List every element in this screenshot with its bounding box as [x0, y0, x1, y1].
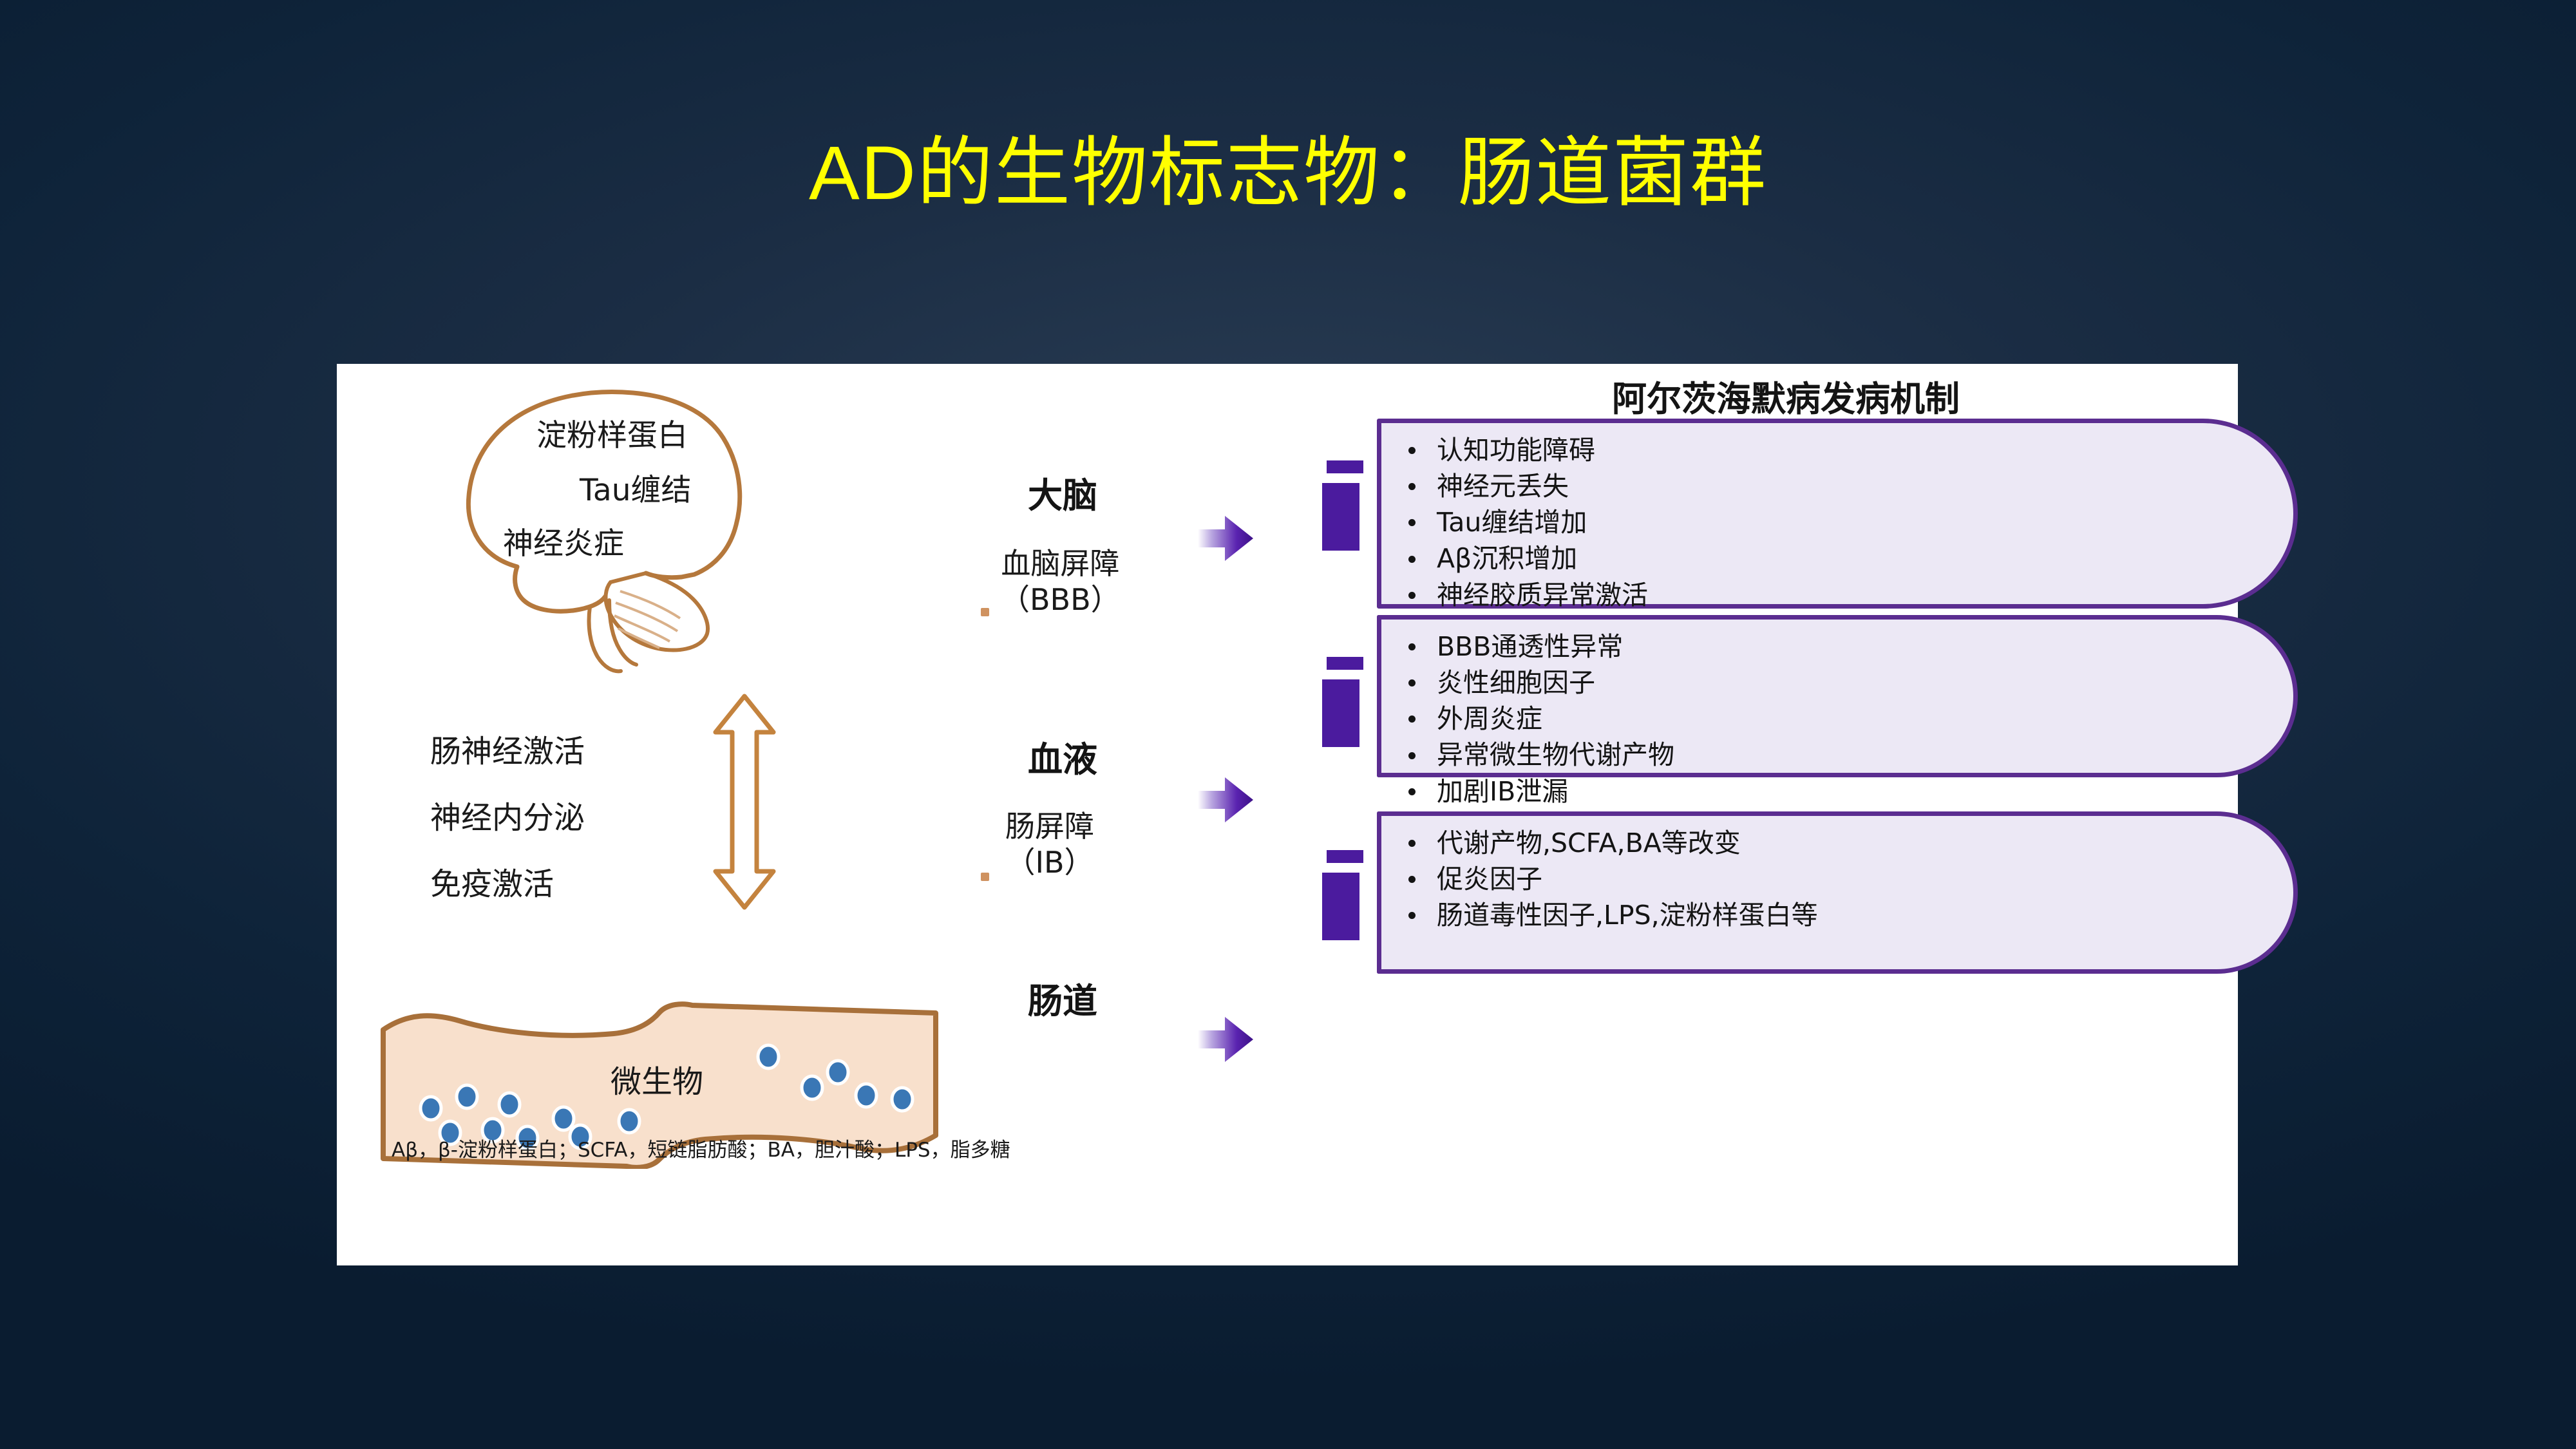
- panel-gut-mechanisms: 代谢产物,SCFA,BA等改变 促炎因子 肠道毒性因子,LPS,淀粉样蛋白等: [1377, 811, 2298, 974]
- panels-heading: 阿尔茨海默病发病机制: [1535, 370, 2037, 421]
- panel-marker-small-blood: [1327, 657, 1363, 670]
- panel-blood-mechanisms: BBB通透性异常 炎性细胞因子 外周炎症 异常微生物代谢产物 加剧IB泄漏: [1377, 615, 2298, 777]
- panel-marker-small-gut: [1327, 850, 1363, 863]
- figure-footnote: Aβ，β-淀粉样蛋白；SCFA，短链脂肪酸；BA，胆汁酸；LPS，脂多糖: [392, 1133, 1010, 1162]
- list-item: 神经元丢失: [1437, 468, 2293, 504]
- right-arrow-icon-gut: [1197, 1014, 1255, 1065]
- slide-canvas: AD的生物标志物：肠道菌群 淀粉样蛋白 Tau缠结 神经炎症 肠神经激活: [0, 0, 2576, 1449]
- list-item: 炎性细胞因子: [1437, 665, 2293, 701]
- bbb-marker-dot: [981, 608, 989, 616]
- panel-marker-large-blood: [1322, 679, 1359, 747]
- list-item: BBB通透性异常: [1437, 629, 2293, 665]
- right-arrow-icon-brain: [1197, 513, 1255, 563]
- panel-marker-large-gut: [1322, 873, 1359, 940]
- list-item: 加剧IB泄漏: [1437, 773, 2293, 810]
- brain-label-amyloid: 淀粉样蛋白: [536, 410, 688, 455]
- axis-label-neuroendocrine: 神经内分泌: [430, 792, 585, 837]
- gut-label-microbiome: 微生物: [611, 1056, 703, 1101]
- panel-marker-small-brain: [1327, 460, 1363, 473]
- list-item: 认知功能障碍: [1437, 432, 2293, 468]
- ib-marker-dot: [981, 873, 989, 881]
- list-item: 肠道毒性因子,LPS,淀粉样蛋白等: [1437, 897, 2293, 933]
- list-item: 异常微生物代谢产物: [1437, 737, 2293, 773]
- brain-label-neuroinflammation: 神经炎症: [503, 518, 624, 563]
- list-item: 代谢产物,SCFA,BA等改变: [1437, 825, 2293, 861]
- list-item: Tau缠结增加: [1437, 504, 2293, 540]
- column-label-gut: 肠道: [1028, 972, 1097, 1023]
- column-label-brain: 大脑: [1028, 467, 1097, 518]
- list-item: Aβ沉积增加: [1437, 540, 2293, 576]
- list-item: 神经胶质异常激活: [1437, 577, 2293, 613]
- right-arrow-icon-blood: [1197, 775, 1255, 825]
- axis-label-enteric-nerve: 肠神经激活: [430, 726, 585, 771]
- column-label-ib: 肠屏障（IB）: [1005, 808, 1094, 880]
- panel-blood-list: BBB通透性异常 炎性细胞因子 外周炎症 异常微生物代谢产物 加剧IB泄漏: [1381, 620, 2293, 810]
- column-label-blood: 血液: [1028, 731, 1097, 782]
- panel-gut-list: 代谢产物,SCFA,BA等改变 促炎因子 肠道毒性因子,LPS,淀粉样蛋白等: [1381, 816, 2293, 933]
- panel-marker-large-brain: [1322, 483, 1359, 551]
- bidirectional-arrow-icon: [709, 692, 780, 911]
- brain-illustration: 淀粉样蛋白 Tau缠结 神经炎症: [404, 374, 855, 676]
- list-item: 促炎因子: [1437, 861, 2293, 897]
- slide-title: AD的生物标志物：肠道菌群: [0, 132, 2576, 216]
- figure-card: 淀粉样蛋白 Tau缠结 神经炎症 肠神经激活 神经内分泌 免疫激活: [337, 364, 2238, 1265]
- column-label-bbb: 血脑屏障（BBB）: [1000, 545, 1121, 618]
- brain-label-tau: Tau缠结: [580, 465, 692, 509]
- list-item: 外周炎症: [1437, 701, 2293, 737]
- axis-label-immune-activation: 免疫激活: [430, 858, 554, 904]
- panel-brain-mechanisms: 认知功能障碍 神经元丢失 Tau缠结增加 Aβ沉积增加 神经胶质异常激活 T细胞…: [1377, 419, 2298, 609]
